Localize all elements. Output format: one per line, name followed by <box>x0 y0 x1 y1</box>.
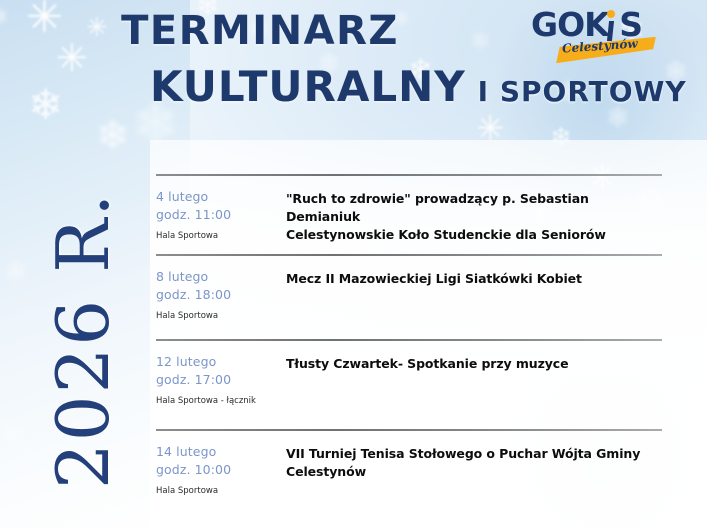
schedule-list: 4 lutego godz. 11:00 Hala Sportowa "Ruch… <box>156 174 662 511</box>
event-title: VII Turniej Tenisa Stołowego o Puchar Wó… <box>286 441 662 481</box>
event-time: godz. 17:00 <box>156 371 286 389</box>
event-title: Tłusty Czwartek- Spotkanie przy muzyce <box>286 351 662 373</box>
logo-i-dot-icon <box>607 10 615 18</box>
event-date: 8 lutego <box>156 268 286 286</box>
event-time: godz. 18:00 <box>156 286 286 304</box>
event-venue: Hala Sportowa <box>156 311 286 322</box>
event-when: 14 lutego godz. 10:00 Hala Sportowa <box>156 441 286 497</box>
event-venue: Hala Sportowa - łącznik <box>156 396 286 407</box>
event-when: 8 lutego godz. 18:00 Hala Sportowa <box>156 266 286 322</box>
poster-root: ✳ ❄ ✳ ✳ ❄ ❄ ❄ ❄ ❄ ❄ ❄ ❄ ❄ ❄ ❄ ❄ ❄ ❄ ✳ ❄ … <box>0 0 707 528</box>
event-when: 4 lutego godz. 11:00 Hala Sportowa <box>156 186 286 242</box>
event-date: 12 lutego <box>156 353 286 371</box>
page-title-line-2-sub: I SPORTOWY <box>478 75 687 108</box>
list-item[interactable]: 8 lutego godz. 18:00 Hala Sportowa Mecz … <box>156 256 662 339</box>
event-title: Mecz II Mazowieckiej Ligi Siatkówki Kobi… <box>286 266 662 288</box>
event-venue: Hala Sportowa <box>156 486 286 497</box>
event-date: 4 lutego <box>156 188 286 206</box>
page-title-line-1: TERMINARZ <box>0 8 520 54</box>
logo-wordmark: GOK S <box>531 8 642 41</box>
event-date: 14 lutego <box>156 443 286 461</box>
event-venue: Hala Sportowa <box>156 231 286 242</box>
page-title-line-2: KULTURALNY <box>150 62 466 111</box>
list-item[interactable]: 4 lutego godz. 11:00 Hala Sportowa "Ruch… <box>156 176 662 254</box>
poster-header: TERMINARZ KULTURALNY I SPORTOWY GOK S Ce… <box>0 0 707 130</box>
gokis-logo[interactable]: GOK S Celestynów <box>531 6 653 70</box>
list-item[interactable]: 14 lutego godz. 10:00 Hala Sportowa VII … <box>156 431 662 511</box>
event-title: "Ruch to zdrowie" prowadzący p. Sebastia… <box>286 186 662 244</box>
event-when: 12 lutego godz. 17:00 Hala Sportowa - łą… <box>156 351 286 407</box>
year-label: 2026 R. <box>41 199 125 489</box>
event-time: godz. 10:00 <box>156 461 286 479</box>
event-time: godz. 11:00 <box>156 206 286 224</box>
list-item[interactable]: 12 lutego godz. 17:00 Hala Sportowa - łą… <box>156 341 662 429</box>
